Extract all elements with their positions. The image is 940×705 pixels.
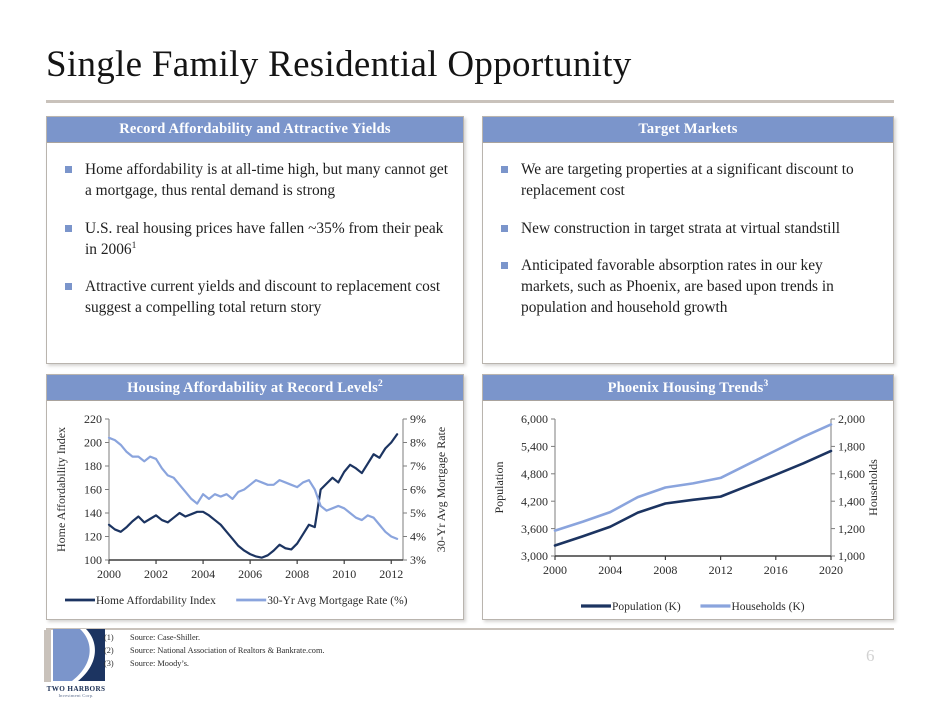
svg-text:4,200: 4,200 (521, 494, 548, 508)
footnote-text: Source: Moody’s. (130, 658, 189, 671)
square-bullet-icon (65, 225, 72, 232)
logo-mark-icon (53, 628, 111, 682)
page-title: Single Family Residential Opportunity (46, 46, 894, 85)
logo-company-subtitle: Investment Corp. (46, 693, 106, 698)
square-bullet-icon (65, 166, 72, 173)
svg-text:120: 120 (84, 530, 102, 544)
bullet-text: New construction in target strata at vir… (521, 218, 840, 239)
panel-header-housing-affordability: Housing Affordability at Record Levels2 (47, 375, 463, 401)
footnote-item: (1) Source: Case-Shiller. (104, 632, 324, 645)
svg-text:2006: 2006 (238, 567, 262, 581)
bullet-list-record-affordability: Home affordability is at all-time high, … (47, 143, 463, 319)
panel-header-label: Phoenix Housing Trends3 (608, 379, 769, 397)
svg-text:3,000: 3,000 (521, 549, 548, 563)
logo-company-name: TWO HARBORS (46, 685, 106, 693)
footnote-number: (1) (104, 632, 130, 645)
chart-svg-housing-affordability: 1001201401601802002203%4%5%6%7%8%9%20002… (47, 401, 463, 620)
chart-housing-affordability: 1001201401601802002203%4%5%6%7%8%9%20002… (47, 401, 463, 620)
svg-text:Households (K): Households (K) (731, 601, 804, 613)
bullet-text: Attractive current yields and discount t… (85, 276, 449, 319)
bullet-list-target-markets: We are targeting properties at a signifi… (483, 143, 893, 319)
svg-text:100: 100 (84, 553, 102, 567)
svg-text:2000: 2000 (97, 567, 121, 581)
footnote-text: Source: National Association of Realtors… (130, 645, 324, 658)
chart-phoenix-trends: 3,0003,6004,2004,8005,4006,0001,0001,200… (483, 401, 893, 620)
svg-text:2012: 2012 (709, 563, 733, 577)
footnotes-list: (1) Source: Case-Shiller. (2) Source: Na… (104, 632, 324, 671)
svg-text:2004: 2004 (191, 567, 215, 581)
svg-text:30-Yr Avg Mortgage Rate: 30-Yr Avg Mortgage Rate (434, 427, 448, 552)
bullet-text: Anticipated favorable absorption rates i… (521, 255, 879, 319)
panel-housing-affordability-chart: Housing Affordability at Record Levels2 … (46, 374, 464, 620)
svg-text:9%: 9% (410, 412, 426, 426)
title-divider (46, 100, 894, 103)
panel-header-target-markets: Target Markets (483, 117, 893, 143)
footnote-number: (3) (104, 658, 130, 671)
svg-text:Population: Population (492, 461, 506, 513)
svg-text:1,800: 1,800 (838, 440, 865, 454)
square-bullet-icon (501, 262, 508, 269)
svg-text:1,600: 1,600 (838, 467, 865, 481)
svg-text:2,000: 2,000 (838, 412, 865, 426)
panel-header-label: Target Markets (638, 121, 737, 138)
svg-text:6,000: 6,000 (521, 412, 548, 426)
svg-text:1,400: 1,400 (838, 494, 865, 508)
panel-target-markets: Target Markets We are targeting properti… (482, 116, 894, 364)
panel-header-label: Record Affordability and Attractive Yiel… (119, 121, 391, 138)
list-item: We are targeting properties at a signifi… (497, 159, 879, 202)
footnote-item: (2) Source: National Association of Real… (104, 645, 324, 658)
chart-svg-phoenix-trends: 3,0003,6004,2004,8005,4006,0001,0001,200… (483, 401, 893, 620)
panel-header-label: Housing Affordability at Record Levels2 (127, 379, 383, 397)
panel-phoenix-trends-chart: Phoenix Housing Trends3 3,0003,6004,2004… (482, 374, 894, 620)
svg-text:2012: 2012 (379, 567, 403, 581)
panel-record-affordability: Record Affordability and Attractive Yiel… (46, 116, 464, 364)
bullet-text: Home affordability is at all-time high, … (85, 159, 449, 202)
footnote-ref: 3 (763, 379, 768, 389)
list-item: Attractive current yields and discount t… (61, 276, 449, 319)
svg-text:1,000: 1,000 (838, 549, 865, 563)
svg-text:2008: 2008 (285, 567, 309, 581)
list-item: Home affordability is at all-time high, … (61, 159, 449, 202)
panel-header-text: Phoenix Housing Trends (608, 379, 764, 395)
svg-text:200: 200 (84, 436, 102, 450)
svg-text:4%: 4% (410, 530, 426, 544)
bullet-text: U.S. real housing prices have fallen ~35… (85, 218, 449, 261)
list-item: Anticipated favorable absorption rates i… (497, 255, 879, 319)
panel-header-phoenix-trends: Phoenix Housing Trends3 (483, 375, 893, 401)
square-bullet-icon (501, 166, 508, 173)
svg-text:Home Affordability Index: Home Affordability Index (54, 427, 68, 552)
panel-header-text: Housing Affordability at Record Levels (127, 379, 378, 395)
svg-text:Population (K): Population (K) (612, 601, 681, 613)
svg-text:8%: 8% (410, 436, 426, 450)
page-number: 6 (866, 646, 875, 666)
footnote-number: (2) (104, 645, 130, 658)
square-bullet-icon (501, 225, 508, 232)
footnote-text: Source: Case-Shiller. (130, 632, 200, 645)
svg-text:160: 160 (84, 483, 102, 497)
svg-text:4,800: 4,800 (521, 467, 548, 481)
svg-text:5%: 5% (410, 506, 426, 520)
svg-text:2000: 2000 (543, 563, 567, 577)
svg-text:Home Affordability Index: Home Affordability Index (96, 595, 216, 607)
svg-text:2008: 2008 (653, 563, 677, 577)
list-item: U.S. real housing prices have fallen ~35… (61, 218, 449, 261)
svg-text:6%: 6% (410, 483, 426, 497)
footnote-ref: 1 (132, 241, 137, 251)
list-item: New construction in target strata at vir… (497, 218, 879, 239)
panel-header-record-affordability: Record Affordability and Attractive Yiel… (47, 117, 463, 143)
svg-text:2002: 2002 (144, 567, 168, 581)
svg-text:30-Yr Avg Mortgage Rate (%): 30-Yr Avg Mortgage Rate (%) (267, 595, 407, 607)
footer-divider (46, 628, 894, 630)
logo-accent-bar (44, 630, 51, 682)
svg-text:5,400: 5,400 (521, 440, 548, 454)
svg-text:7%: 7% (410, 459, 426, 473)
footnote-ref: 2 (378, 379, 383, 389)
svg-text:Households: Households (866, 459, 880, 516)
svg-text:220: 220 (84, 412, 102, 426)
square-bullet-icon (65, 283, 72, 290)
footnote-item: (3) Source: Moody’s. (104, 658, 324, 671)
svg-text:180: 180 (84, 459, 102, 473)
svg-text:2004: 2004 (598, 563, 622, 577)
svg-text:2016: 2016 (764, 563, 788, 577)
company-logo: TWO HARBORS Investment Corp. (44, 628, 106, 698)
svg-text:3%: 3% (410, 553, 426, 567)
bullet-text-body: U.S. real housing prices have fallen ~35… (85, 220, 443, 258)
bullet-text: We are targeting properties at a signifi… (521, 159, 879, 202)
svg-text:3,600: 3,600 (521, 522, 548, 536)
svg-text:140: 140 (84, 506, 102, 520)
svg-text:2010: 2010 (332, 567, 356, 581)
svg-text:1,200: 1,200 (838, 522, 865, 536)
svg-text:2020: 2020 (819, 563, 843, 577)
